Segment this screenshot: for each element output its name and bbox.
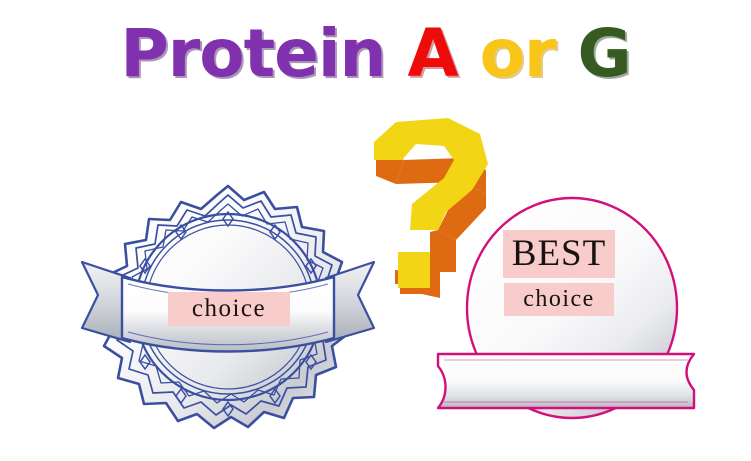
- title-word-g: G: [577, 15, 630, 92]
- title-word-a: A: [408, 15, 458, 92]
- poster-canvas: Protein A or G: [0, 0, 751, 461]
- title-space-1: [386, 15, 408, 92]
- badge-right-headline: BEST: [503, 230, 615, 278]
- seal-ribbon: [438, 354, 694, 408]
- title-space-3: [555, 15, 577, 92]
- badge-left-ribbon-label: choice: [168, 292, 290, 326]
- page-title: Protein A or G: [0, 18, 751, 89]
- title-space-2: [458, 15, 480, 92]
- title-word-or: or: [480, 15, 556, 92]
- badge-right-subline: choice: [504, 283, 614, 316]
- title-word-protein: Protein: [120, 15, 385, 92]
